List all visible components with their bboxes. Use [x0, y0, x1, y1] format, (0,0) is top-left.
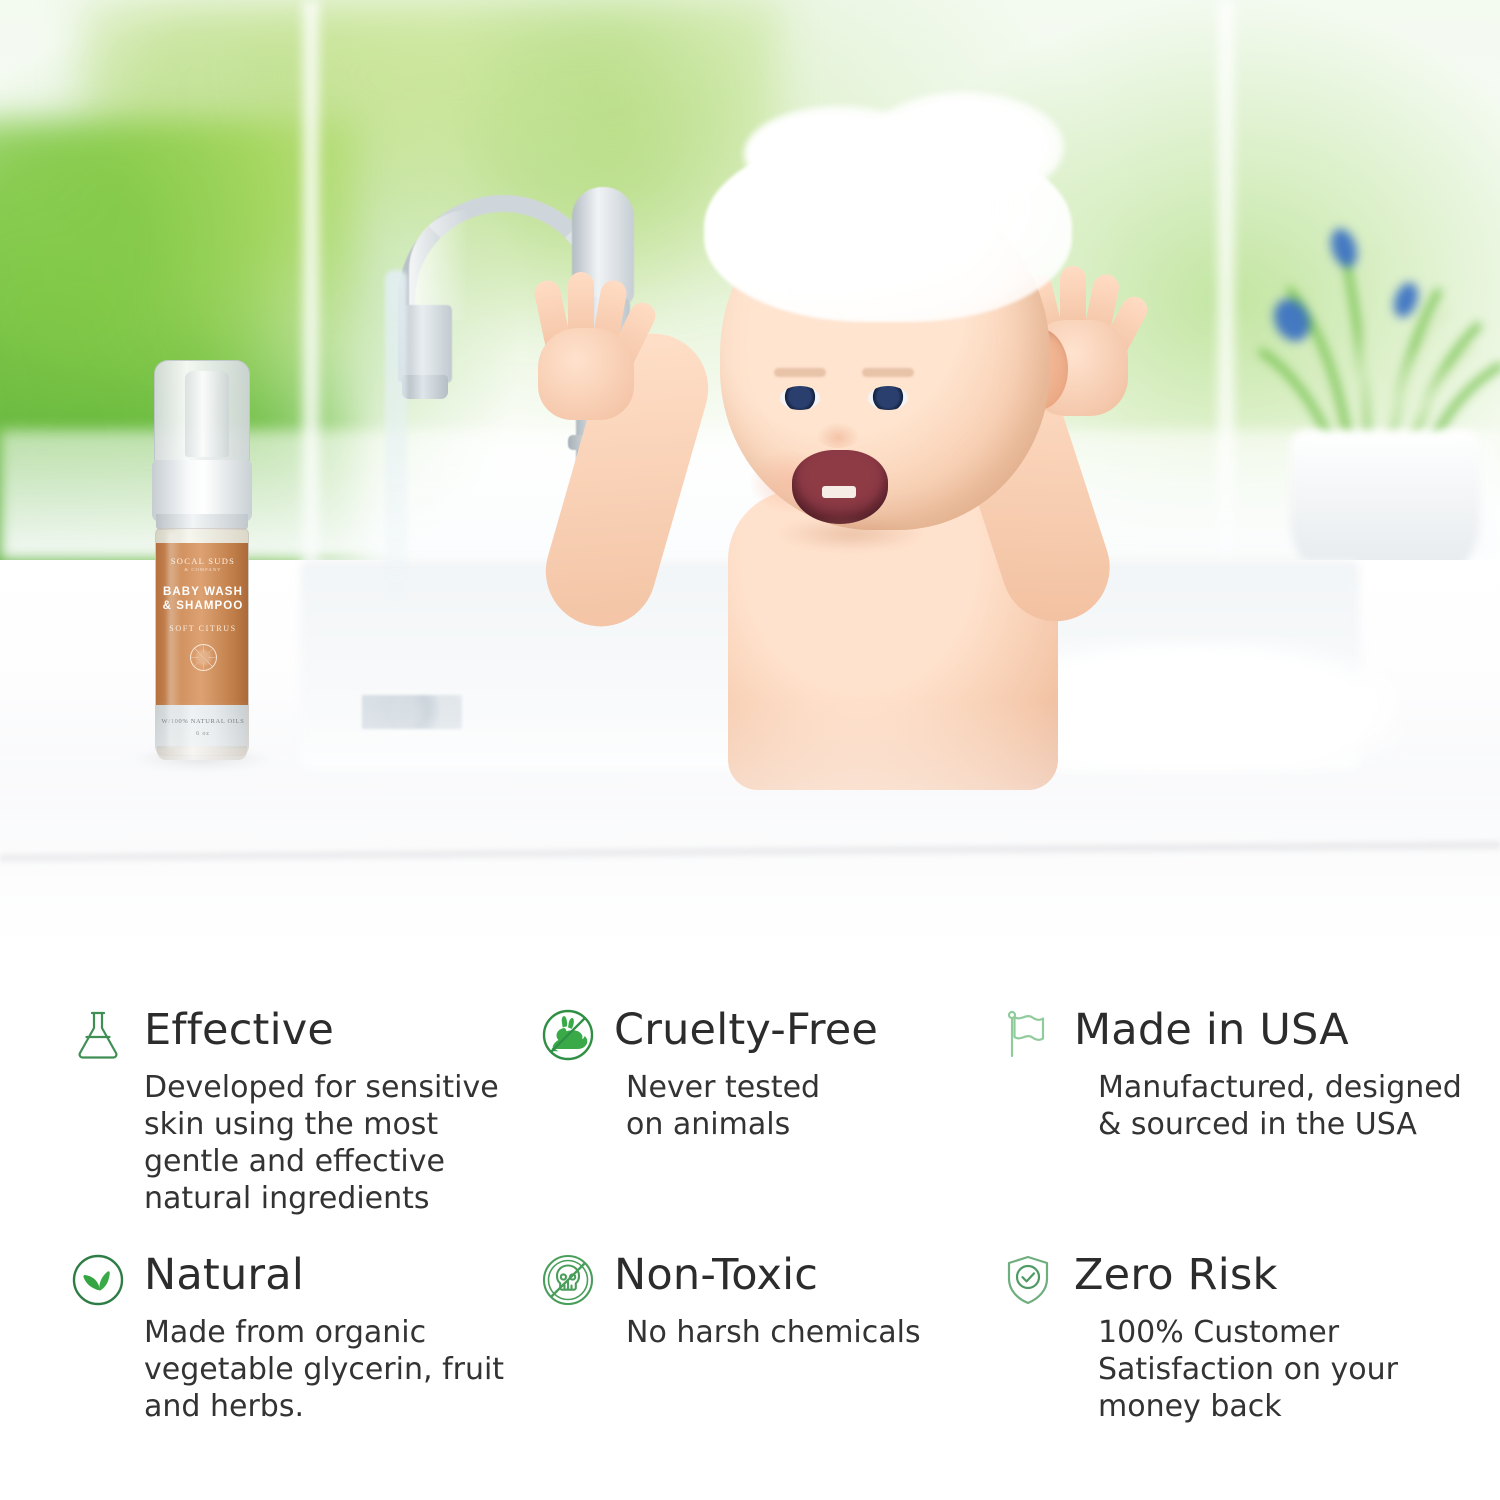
product-hero-photo: SOCAL SUDS & COMPANY BABY WASH & SHAMPOO… — [0, 0, 1500, 960]
feature-description: Developed for sensitive skin using the m… — [144, 1069, 540, 1217]
baby-eye-left — [780, 386, 820, 410]
no-skull-icon — [540, 1252, 596, 1308]
no-rabbit-icon — [540, 1007, 596, 1063]
baby-left-hand — [514, 274, 664, 424]
feature-title: Made in USA — [1074, 1005, 1349, 1055]
feature-effective: Effective Developed for sensitive skin u… — [70, 1005, 540, 1250]
feature-cruelty-free: Cruelty-Free Never tested on animals — [540, 1005, 1000, 1250]
label-brand-sub: & COMPANY — [184, 567, 221, 572]
feature-title: Natural — [144, 1250, 304, 1300]
feature-natural: Natural Made from organic vegetable glyc… — [70, 1250, 540, 1500]
feature-title: Cruelty-Free — [614, 1005, 878, 1055]
feature-made-in-usa: Made in USA Manufactured, designed & sou… — [1000, 1005, 1470, 1250]
water-stream — [385, 270, 407, 600]
feature-description: No harsh chemicals — [626, 1314, 1000, 1351]
flag-icon — [1000, 1007, 1056, 1063]
bottle-overcap — [154, 360, 250, 464]
features-panel: Effective Developed for sensitive skin u… — [0, 960, 1500, 1500]
feature-description: 100% Customer Satisfaction on your money… — [1098, 1314, 1470, 1425]
shield-check-icon — [1000, 1252, 1056, 1308]
feature-description: Manufactured, designed & sourced in the … — [1098, 1069, 1470, 1143]
feature-title: Effective — [144, 1005, 334, 1055]
citrus-emblem-icon — [190, 644, 217, 671]
foam-on-head — [704, 132, 1072, 322]
bottle-pump — [152, 460, 252, 522]
baby-in-bath — [600, 150, 1220, 770]
feature-description: Made from organic vegetable glycerin, fr… — [144, 1314, 540, 1425]
feature-title: Non-Toxic — [614, 1250, 818, 1300]
feature-non-toxic: Non-Toxic No harsh chemicals — [540, 1250, 1000, 1500]
baby-eye-right — [868, 386, 908, 410]
photo-white-fade — [0, 700, 1500, 960]
leaves-icon — [70, 1252, 126, 1308]
feature-description: Never tested on animals — [626, 1069, 1000, 1143]
feature-zero-risk: Zero Risk 100% Customer Satisfaction on … — [1000, 1250, 1470, 1500]
flask-icon — [70, 1007, 126, 1063]
feature-title: Zero Risk — [1074, 1250, 1278, 1300]
